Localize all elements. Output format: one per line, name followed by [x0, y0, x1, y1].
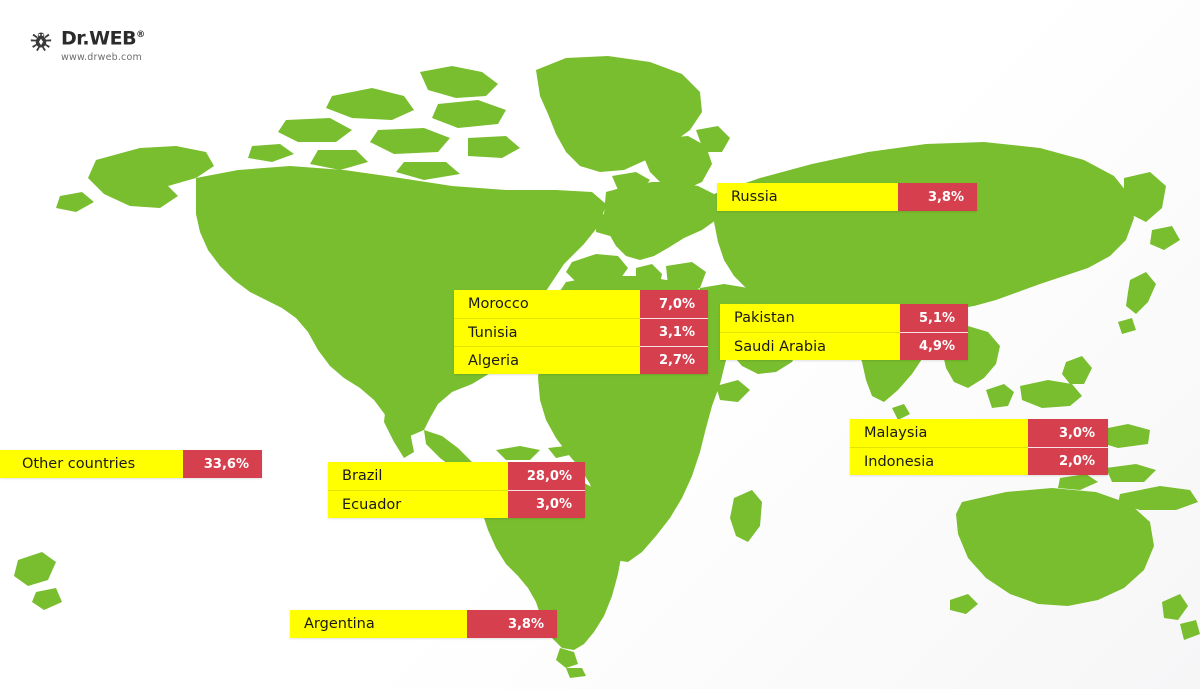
- callout-row[interactable]: Morocco 7,0%: [454, 290, 708, 318]
- callout-north-africa[interactable]: Morocco 7,0% Tunisia 3,1% Algeria 2,7%: [454, 290, 708, 374]
- world-map-infographic: Dr.WEB® www.drweb.com: [0, 0, 1200, 689]
- country-value: 2,7%: [640, 346, 708, 374]
- country-value: 28,0%: [508, 462, 585, 490]
- callout-row[interactable]: Argentina 3,8%: [290, 610, 557, 638]
- callout-row[interactable]: Malaysia 3,0%: [850, 419, 1108, 447]
- drweb-logo: Dr.WEB® www.drweb.com: [28, 26, 145, 63]
- brand-name: Dr.WEB: [61, 27, 136, 49]
- registered-mark: ®: [136, 30, 145, 40]
- country-value: 2,0%: [1028, 447, 1108, 475]
- callout-row[interactable]: Pakistan 5,1%: [720, 304, 968, 332]
- callout-row[interactable]: Tunisia 3,1%: [454, 318, 708, 346]
- country-label: Russia: [717, 183, 898, 211]
- country-label: Tunisia: [454, 318, 640, 346]
- callout-row[interactable]: Other countries 33,6%: [0, 450, 262, 478]
- country-label: Ecuador: [328, 490, 508, 518]
- country-value: 7,0%: [640, 290, 708, 318]
- spider-icon: [28, 28, 54, 54]
- callout-west-asia[interactable]: Pakistan 5,1% Saudi Arabia 4,9%: [720, 304, 968, 360]
- callout-row[interactable]: Saudi Arabia 4,9%: [720, 332, 968, 360]
- country-value: 3,8%: [898, 183, 977, 211]
- callout-row[interactable]: Russia 3,8%: [717, 183, 977, 211]
- country-value: 33,6%: [183, 450, 262, 478]
- country-value: 3,0%: [1028, 419, 1108, 447]
- callout-southeast-asia[interactable]: Malaysia 3,0% Indonesia 2,0%: [850, 419, 1108, 475]
- country-label: Pakistan: [720, 304, 900, 332]
- country-value: 3,0%: [508, 490, 585, 518]
- callout-row[interactable]: Ecuador 3,0%: [328, 490, 585, 518]
- callout-row[interactable]: Algeria 2,7%: [454, 346, 708, 374]
- country-label: Saudi Arabia: [720, 332, 900, 360]
- callout-row[interactable]: Indonesia 2,0%: [850, 447, 1108, 475]
- country-value: 5,1%: [900, 304, 968, 332]
- country-label: Brazil: [328, 462, 508, 490]
- country-label: Malaysia: [850, 419, 1028, 447]
- callout-other-countries[interactable]: Other countries 33,6%: [0, 450, 262, 478]
- country-label: Algeria: [454, 346, 640, 374]
- brand-url: www.drweb.com: [61, 52, 145, 63]
- country-label: Other countries: [0, 450, 183, 478]
- callout-row[interactable]: Brazil 28,0%: [328, 462, 585, 490]
- country-label: Argentina: [290, 610, 467, 638]
- country-value: 3,8%: [467, 610, 557, 638]
- country-value: 4,9%: [900, 332, 968, 360]
- callout-russia[interactable]: Russia 3,8%: [717, 183, 977, 211]
- country-value: 3,1%: [640, 318, 708, 346]
- country-label: Indonesia: [850, 447, 1028, 475]
- country-label: Morocco: [454, 290, 640, 318]
- callout-south-america[interactable]: Brazil 28,0% Ecuador 3,0%: [328, 462, 585, 518]
- callout-argentina[interactable]: Argentina 3,8%: [290, 610, 557, 638]
- brand-wordmark: Dr.WEB®: [61, 26, 145, 48]
